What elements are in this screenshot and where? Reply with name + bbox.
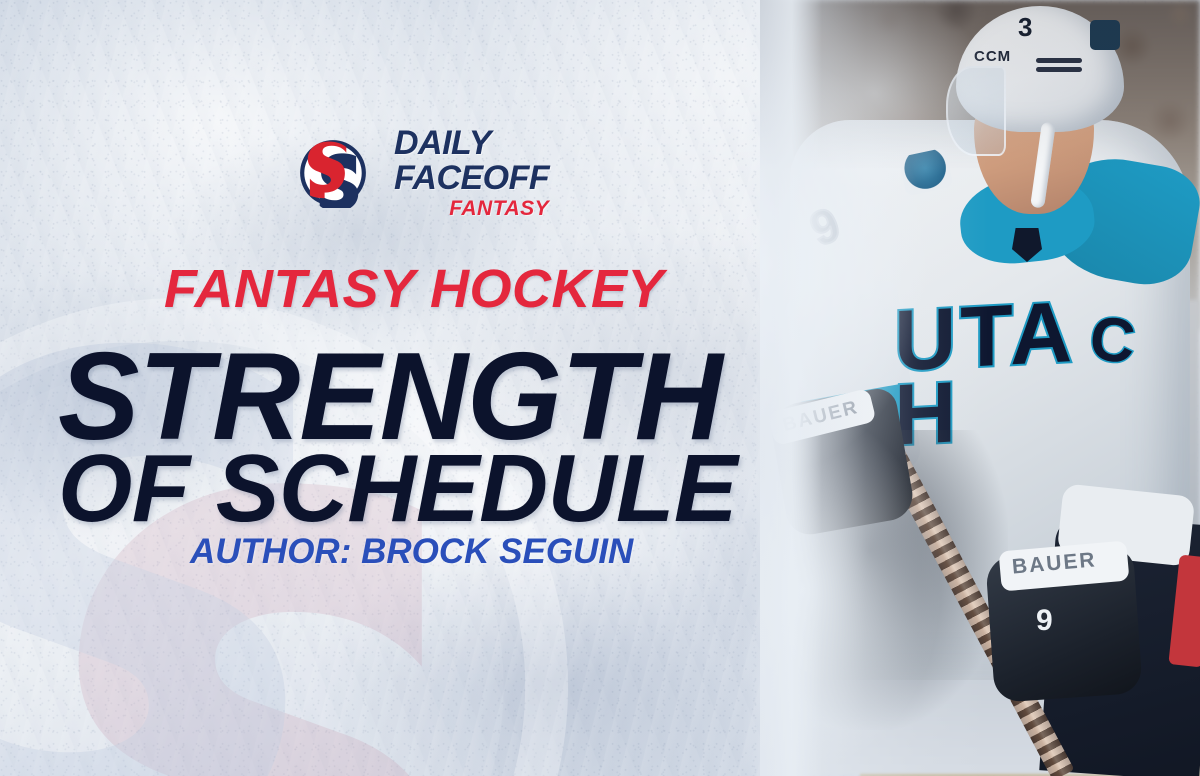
brand-line-fantasy: FANTASY xyxy=(449,198,549,219)
daily-faceoff-wordmark: DAILY FACEOFF FANTASY xyxy=(394,126,549,219)
article-hero-banner: 9 3 CCM UTA H C BAUER xyxy=(0,0,1200,776)
article-kicker: FANTASY HOCKEY xyxy=(164,258,664,320)
brand-line-faceoff: FACEOFF xyxy=(394,161,549,195)
hero-content: DAILY FACEOFF FANTASY FANTASY HOCKEY STR… xyxy=(0,0,1200,776)
daily-faceoff-logo-lockup[interactable]: DAILY FACEOFF FANTASY xyxy=(298,126,549,219)
article-title-line-2: OF SCHEDULE xyxy=(58,434,737,544)
brand-line-daily: DAILY xyxy=(394,126,549,160)
daily-faceoff-logo-icon xyxy=(298,138,368,208)
article-author-byline: AUTHOR: BROCK SEGUIN xyxy=(190,532,633,572)
